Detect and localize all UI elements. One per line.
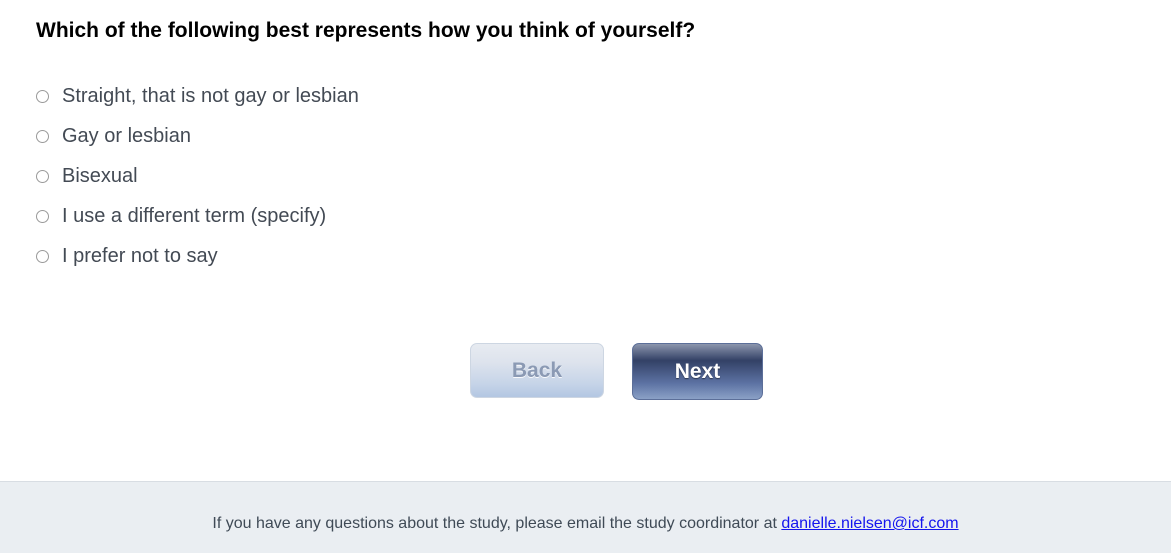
option-label: Straight, that is not gay or lesbian [62,84,359,108]
radio-button-icon[interactable] [36,170,49,183]
footer: If you have any questions about the stud… [0,481,1171,553]
page-title: Which of the following best represents h… [36,19,695,43]
footer-message-text: If you have any questions about the stud… [212,515,781,532]
radio-button-icon[interactable] [36,130,49,143]
option-row-different-term[interactable]: I use a different term (specify) [36,196,736,236]
option-row-bisexual[interactable]: Bisexual [36,156,736,196]
option-row-prefer-not-to-say[interactable]: I prefer not to say [36,236,736,276]
option-label: I use a different term (specify) [62,204,326,228]
back-button[interactable]: Back [470,343,604,398]
option-label: Bisexual [62,164,138,188]
option-row-gay-or-lesbian[interactable]: Gay or lesbian [36,116,736,156]
option-label: Gay or lesbian [62,124,191,148]
radio-group: Straight, that is not gay or lesbian Gay… [36,76,736,276]
radio-button-icon[interactable] [36,90,49,103]
option-label: I prefer not to say [62,244,218,268]
survey-page: Which of the following best represents h… [0,0,1171,553]
next-button[interactable]: Next [632,343,763,400]
option-row-straight[interactable]: Straight, that is not gay or lesbian [36,76,736,116]
study-coordinator-email-link[interactable]: danielle.nielsen@icf.com [781,515,958,532]
radio-button-icon[interactable] [36,250,49,263]
footer-message: If you have any questions about the stud… [0,515,1171,533]
radio-button-icon[interactable] [36,210,49,223]
